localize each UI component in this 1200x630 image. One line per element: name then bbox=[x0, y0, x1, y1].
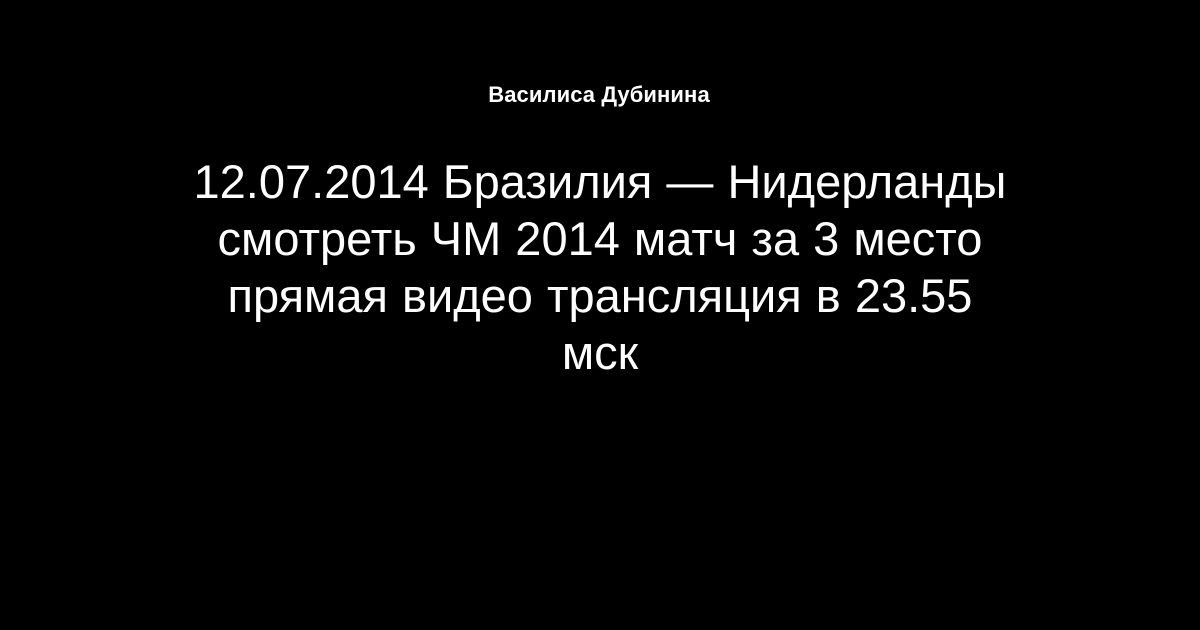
share-card: Василиса Дубинина 12.07.2014 Бразилия — … bbox=[0, 0, 1200, 630]
headline-block: 12.07.2014 Бразилия — Нидерланды смотрет… bbox=[110, 153, 1090, 381]
headline-line-1: 12.07.2014 Бразилия — Нидерланды bbox=[110, 153, 1090, 210]
headline-line-3: прямая видео трансляция в 23.55 bbox=[110, 267, 1090, 324]
page-title: 12.07.2014 Бразилия — Нидерланды смотрет… bbox=[110, 153, 1090, 381]
headline-line-4: мск bbox=[110, 324, 1090, 381]
headline-line-2: смотреть ЧМ 2014 матч за 3 место bbox=[110, 210, 1090, 267]
author-byline: Василиса Дубинина bbox=[488, 79, 710, 111]
